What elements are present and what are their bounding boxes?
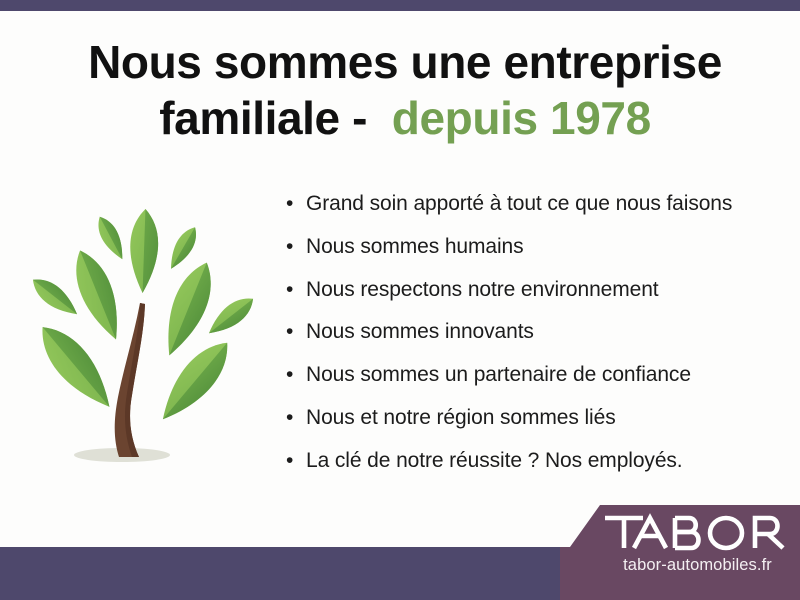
list-item-label: La clé de notre réussite ? Nos employés.	[306, 448, 683, 473]
bullet-point-icon: •	[286, 277, 306, 302]
tree-leaf	[203, 291, 259, 341]
tree-leaf	[27, 272, 83, 322]
list-item: • La clé de notre réussite ? Nos employé…	[286, 448, 786, 491]
list-item: • Grand soin apporté à tout ce que nous …	[286, 191, 786, 234]
title-space	[367, 92, 392, 144]
title-accent: depuis 1978	[392, 92, 651, 144]
title-line-2: familiale - depuis 1978	[60, 90, 750, 146]
page-title: Nous sommes une entreprise familiale - d…	[60, 34, 750, 146]
list-item-label: Nous respectons notre environnement	[306, 277, 659, 302]
title-line-2-plain: familiale	[159, 92, 340, 144]
list-item-label: Nous sommes humains	[306, 234, 524, 259]
bullet-point-icon: •	[286, 448, 306, 473]
tabor-wordmark-logo[interactable]	[600, 511, 795, 551]
list-item: • Nous respectons notre environnement	[286, 277, 786, 320]
logo-lockup[interactable]: tabor-automobiles.fr	[600, 511, 795, 575]
tree-leaf	[150, 332, 239, 429]
tree-leaf	[66, 245, 131, 346]
list-item-label: Nous sommes un partenaire de confiance	[306, 362, 691, 387]
list-item: • Nous et notre région sommes liés	[286, 405, 786, 448]
list-item-label: Nous et notre région sommes liés	[306, 405, 616, 430]
title-line-1: Nous sommes une entreprise	[60, 34, 750, 90]
list-item: • Nous sommes humains	[286, 234, 786, 277]
title-dash	[340, 92, 352, 144]
tree-leaf	[129, 209, 160, 294]
bullet-point-icon: •	[286, 319, 306, 344]
title-dash-glyph: -	[352, 92, 367, 144]
list-item-label: Nous sommes innovants	[306, 319, 534, 344]
list-item: • Nous sommes innovants	[286, 319, 786, 362]
bullet-point-icon: •	[286, 362, 306, 387]
tree-illustration	[18, 185, 268, 485]
bullet-point-icon: •	[286, 405, 306, 430]
bullet-list: • Grand soin apporté à tout ce que nous …	[286, 191, 786, 491]
top-accent-band	[0, 0, 800, 11]
bullet-point-icon: •	[286, 234, 306, 259]
list-item-label: Grand soin apporté à tout ce que nous fa…	[306, 191, 732, 216]
tree-leaf	[92, 213, 129, 263]
bullet-point-icon: •	[286, 191, 306, 216]
logo-domain-text[interactable]: tabor-automobiles.fr	[600, 556, 795, 575]
tree-leaf	[154, 257, 221, 362]
slide-canvas: Nous sommes une entreprise familiale - d…	[0, 0, 800, 600]
list-item: • Nous sommes un partenaire de confiance	[286, 362, 786, 405]
tree-leaf	[164, 223, 202, 273]
